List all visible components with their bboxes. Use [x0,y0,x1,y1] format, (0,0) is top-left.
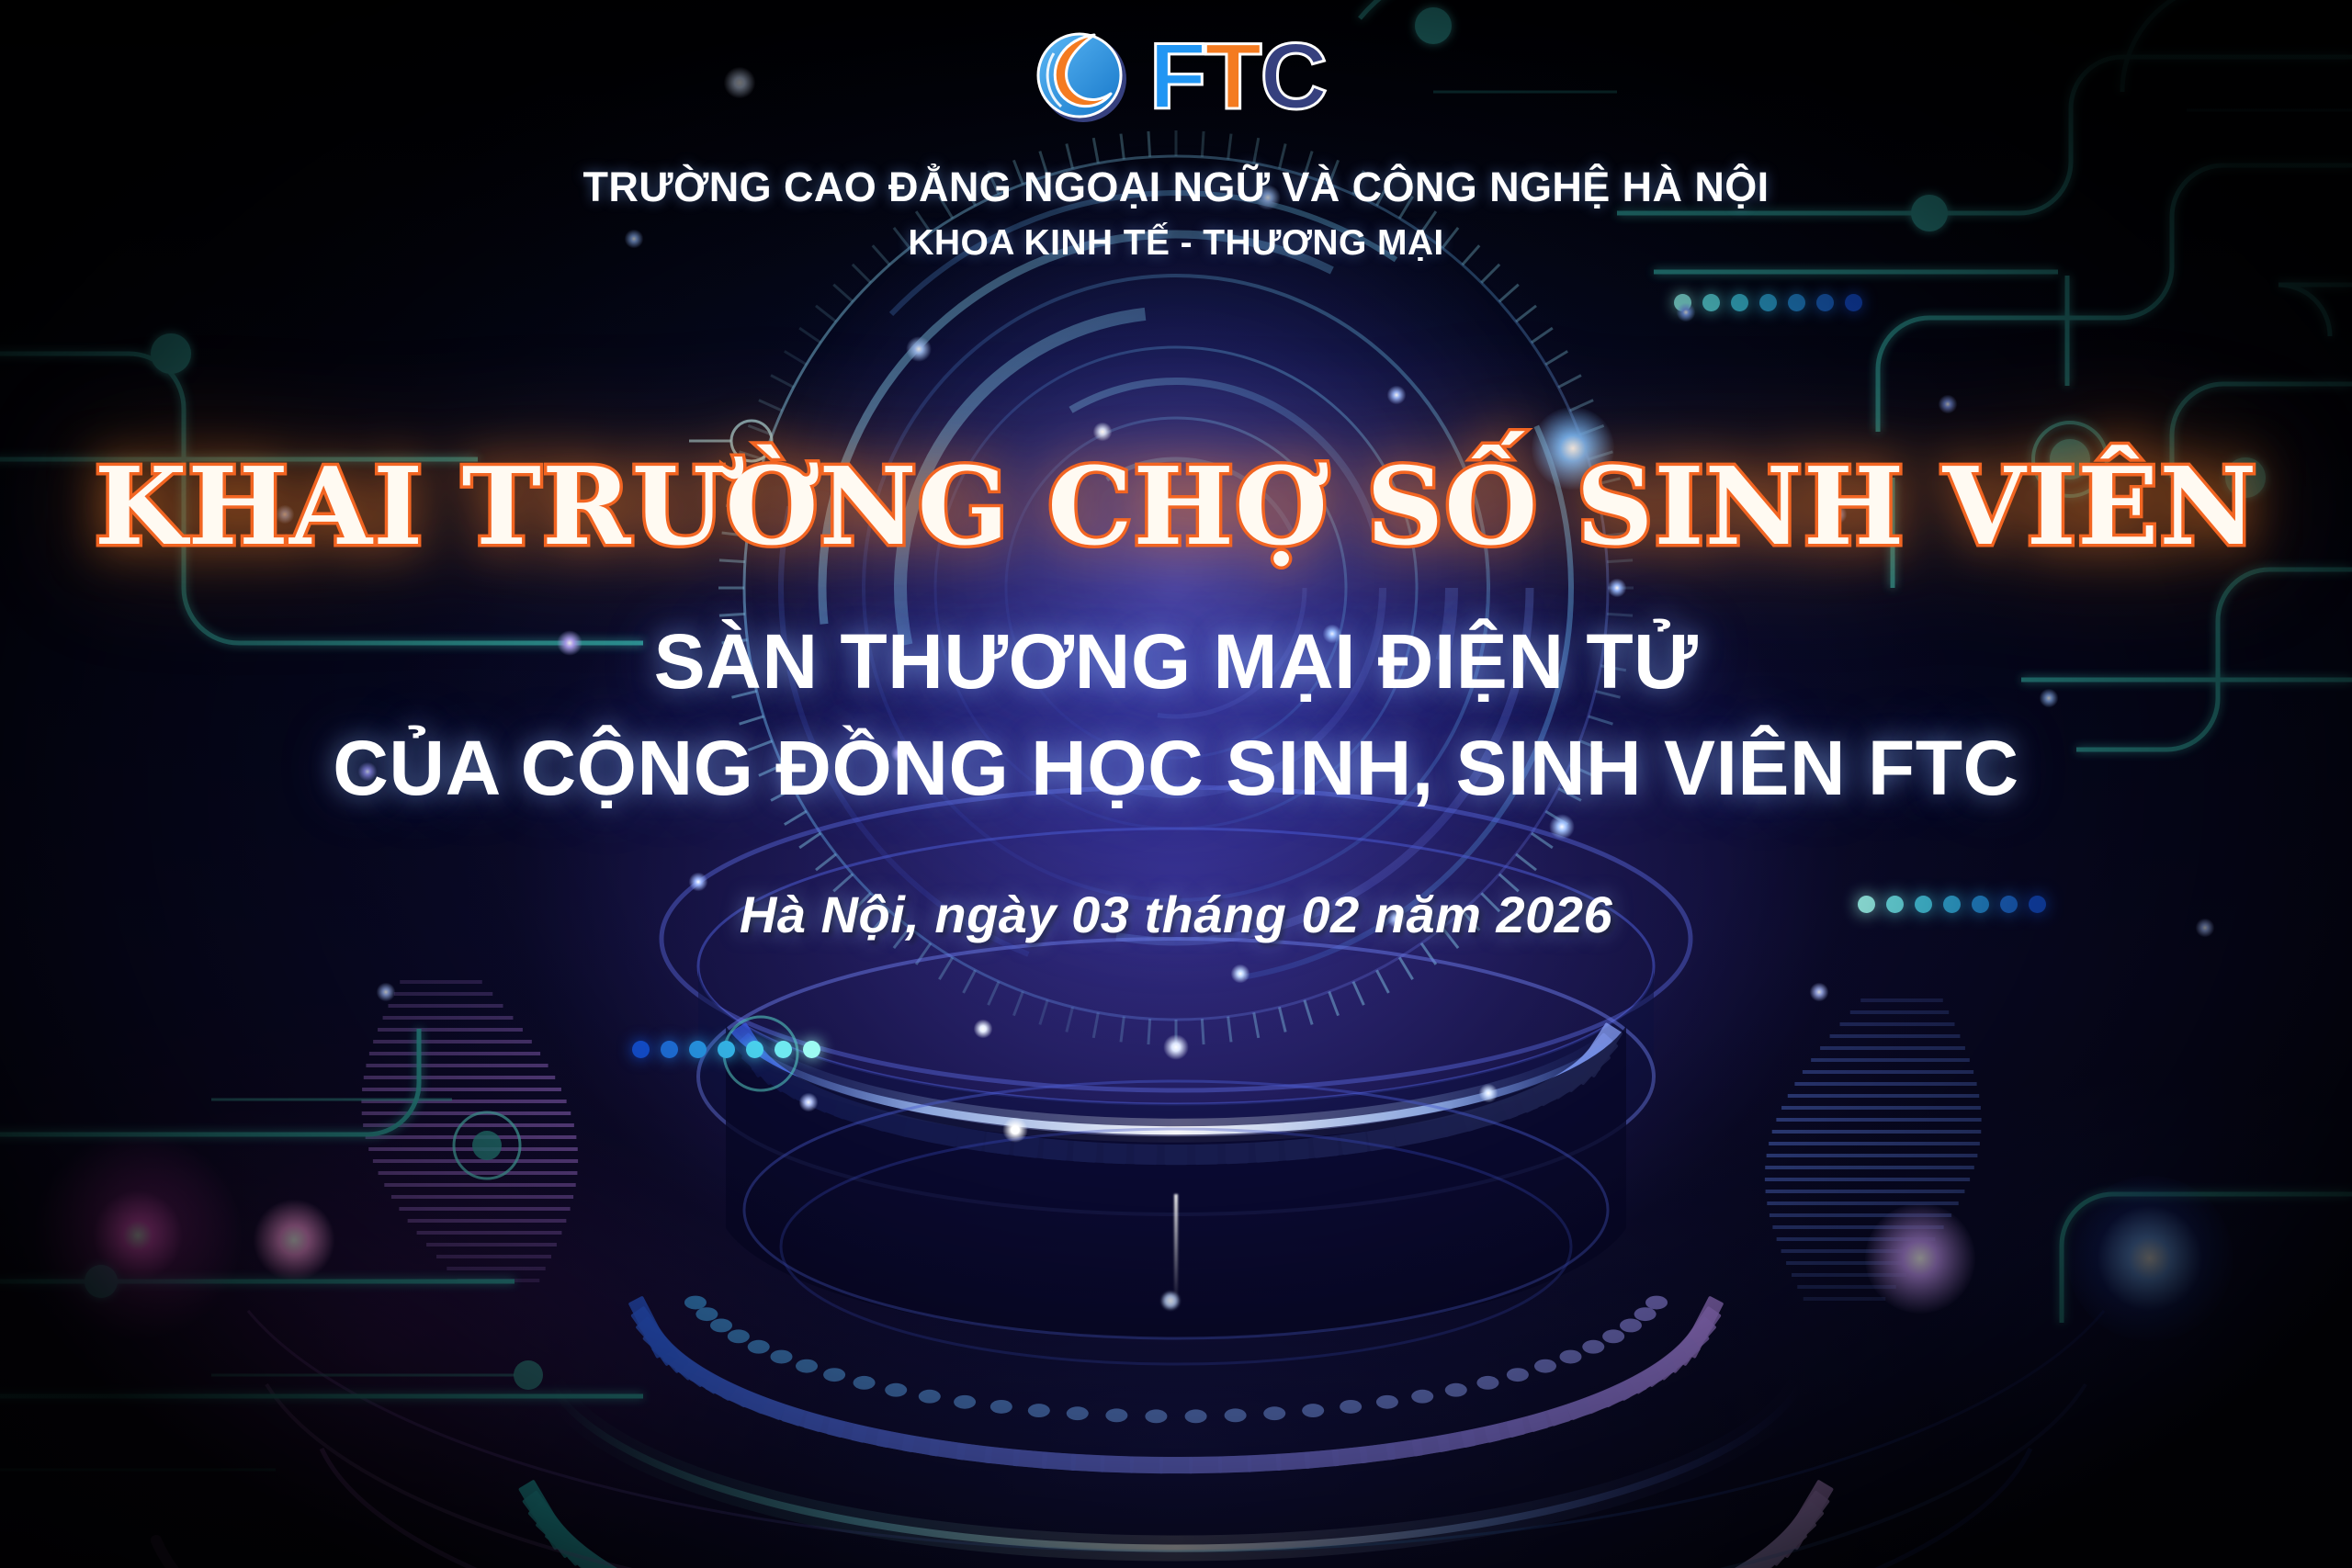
poster-canvas: F T C TRƯỜNG CAO ĐẲNG NGOẠI NGỮ VÀ CÔNG … [0,0,2352,1568]
page-title: KHAI TRƯỜNG CHỢ SỐ SINH VIÊN [0,452,2352,564]
logo-block: F T C [0,22,2352,130]
subtitle-line-2: CỦA CỘNG ĐỒNG HỌC SINH, SINH VIÊN FTC [0,724,2352,813]
logo-letter-t: T [1204,29,1260,123]
logo-letter-c: C [1260,29,1326,123]
poster-content: F T C TRƯỜNG CAO ĐẲNG NGOẠI NGỮ VÀ CÔNG … [0,0,2352,1568]
ftc-logo-letters: F T C [1149,29,1326,123]
logo-letter-f: F [1149,29,1204,123]
ftc-logo: F T C [1026,22,1326,130]
ftc-globe-icon [1026,22,1146,130]
subtitle-line-1: SÀN THƯƠNG MẠI ĐIỆN TỬ [0,617,2352,706]
school-name: TRƯỜNG CAO ĐẲNG NGOẠI NGỮ VÀ CÔNG NGHỆ H… [0,164,2352,211]
faculty-name: KHOA KINH TẾ - THƯƠNG MẠI [0,223,2352,264]
event-date: Hà Nội, ngày 03 tháng 02 năm 2026 [0,885,2352,944]
